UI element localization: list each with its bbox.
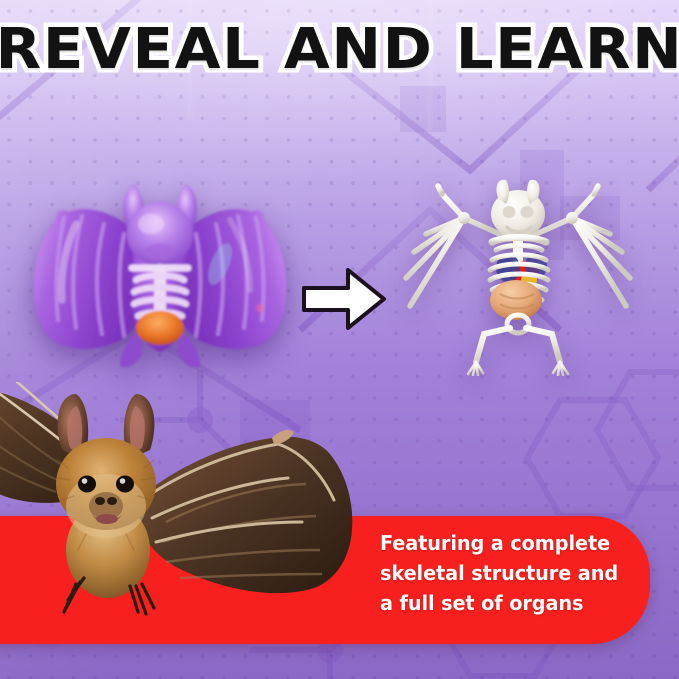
feature-banner-text: Featuring a complete skeletal structure … <box>380 528 626 618</box>
title-area: REVEAL AND LEARN <box>0 22 679 78</box>
right-arrow-icon <box>296 262 392 336</box>
real-bat-photo <box>0 382 396 644</box>
poster-title: REVEAL AND LEARN <box>0 22 679 78</box>
banner-line-1: Featuring a complete <box>380 528 626 558</box>
banner-line-2: skeletal structure and <box>380 558 626 588</box>
product-poster: REVEAL AND LEARN <box>0 0 679 679</box>
banner-line-3: a full set of organs <box>380 588 626 618</box>
gel-bat-toy <box>24 168 296 382</box>
skeleton-bat-model <box>392 176 644 376</box>
